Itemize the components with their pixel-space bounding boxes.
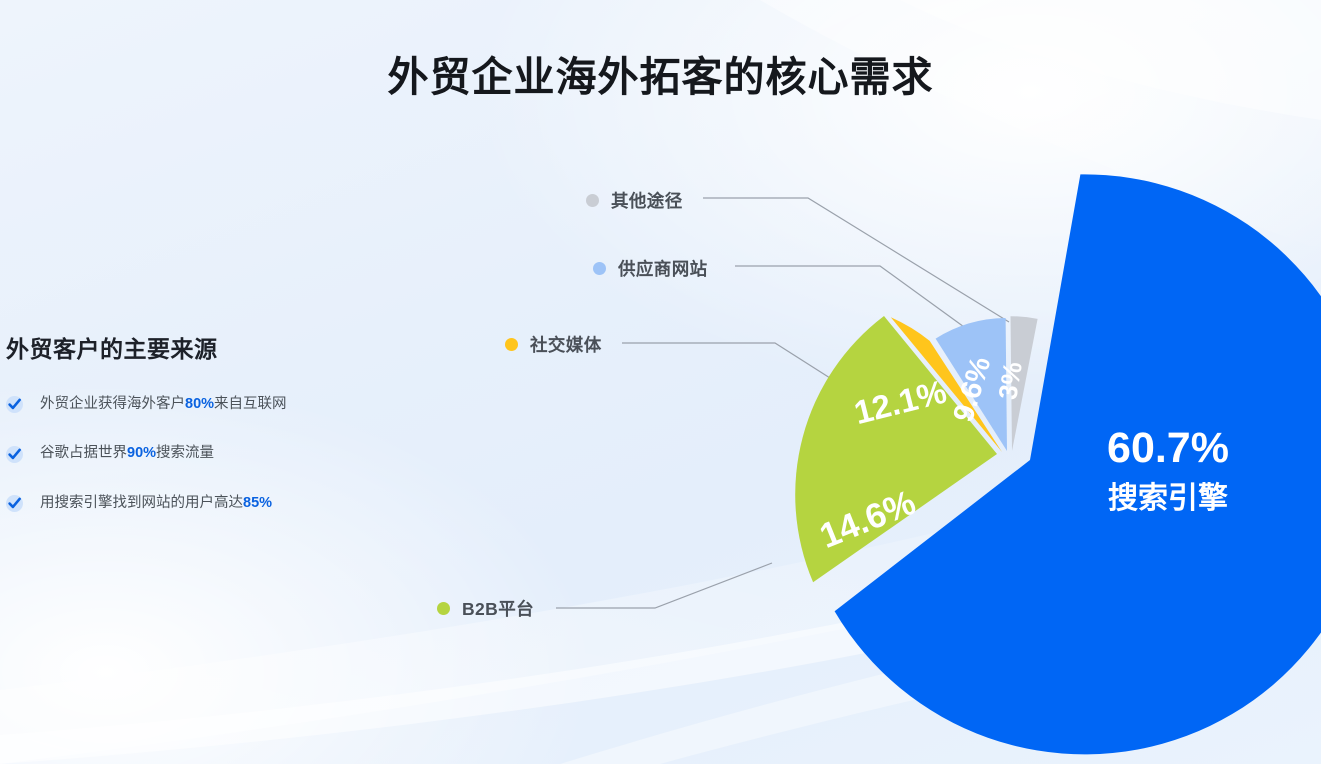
list-item-text: 用搜索引擎找到网站的用户高达85% (40, 495, 272, 512)
pie-slice-b2b[interactable] (795, 316, 997, 582)
legend-item-supplier[interactable]: 供应商网站 (593, 256, 708, 281)
list-item-text-post: 搜索流量 (156, 445, 214, 461)
slide-background: 外贸企业海外拓客的核心需求 外贸客户的主要来源 外贸企业获得海外客户80%来自互… (0, 0, 1321, 764)
info-panel: 外贸客户的主要来源 外贸企业获得海外客户80%来自互联网 谷歌占据世界90%搜索… (6, 330, 406, 544)
legend-label-social: 社交媒体 (530, 332, 602, 357)
leader-line-other (703, 198, 1009, 322)
slice-label-supplier: 9.6% (947, 353, 997, 426)
legend-dot-social (505, 338, 518, 351)
list-item-text: 外贸企业获得海外客户80%来自互联网 (40, 396, 287, 413)
list-item: 谷歌占据世界90%搜索流量 (6, 445, 406, 462)
slice-label-social: 12.1% (850, 373, 950, 432)
pie-slice-search-engine[interactable] (835, 174, 1321, 754)
list-item: 用搜索引擎找到网站的用户高达85% (6, 495, 406, 512)
info-panel-heading: 外贸客户的主要来源 (6, 330, 406, 364)
check-icon (6, 495, 23, 512)
pie-slice-supplier[interactable] (936, 318, 1007, 451)
leader-line-social (622, 343, 918, 434)
legend-item-social[interactable]: 社交媒体 (505, 332, 602, 357)
list-item-highlight: 90% (127, 445, 156, 461)
pie-slice-social[interactable] (891, 317, 1002, 452)
legend-dot-other (586, 194, 599, 207)
check-icon (6, 446, 23, 463)
page-title: 外贸企业海外拓客的核心需求 (0, 43, 1321, 103)
legend-label-supplier: 供应商网站 (618, 256, 708, 281)
slice-label-search-pct: 60.7% (1107, 424, 1229, 472)
list-item-text: 谷歌占据世界90%搜索流量 (40, 445, 214, 462)
slice-label-other: 3% (992, 360, 1028, 402)
legend-dot-supplier (593, 262, 606, 275)
legend-item-other[interactable]: 其他途径 (586, 188, 683, 213)
list-item-text-pre: 用搜索引擎找到网站的用户高达 (40, 495, 243, 511)
list-item-text-post: 来自互联网 (214, 396, 287, 412)
legend-item-b2b[interactable]: B2B平台 (437, 596, 534, 621)
check-icon (6, 396, 23, 413)
legend-label-b2b: B2B平台 (462, 596, 534, 621)
list-item-text-pre: 外贸企业获得海外客户 (40, 396, 185, 412)
legend-label-other: 其他途径 (611, 188, 683, 213)
list-item-highlight: 85% (243, 495, 272, 511)
pie-slice-labels: 60.7% 搜索引擎 14.6% 12.1% 9.6% 3% (814, 353, 1229, 556)
leader-line-b2b (556, 563, 772, 608)
slice-label-b2b: 14.6% (814, 483, 921, 556)
slice-label-search-name: 搜索引擎 (1108, 482, 1228, 515)
list-item: 外贸企业获得海外客户80%来自互联网 (6, 396, 406, 413)
pie-slice-other[interactable] (1011, 316, 1038, 451)
leader-line-supplier (735, 266, 971, 332)
list-item-highlight: 80% (185, 396, 214, 412)
list-item-text-pre: 谷歌占据世界 (40, 445, 127, 461)
pie-slices (795, 174, 1321, 754)
legend-dot-b2b (437, 602, 450, 615)
